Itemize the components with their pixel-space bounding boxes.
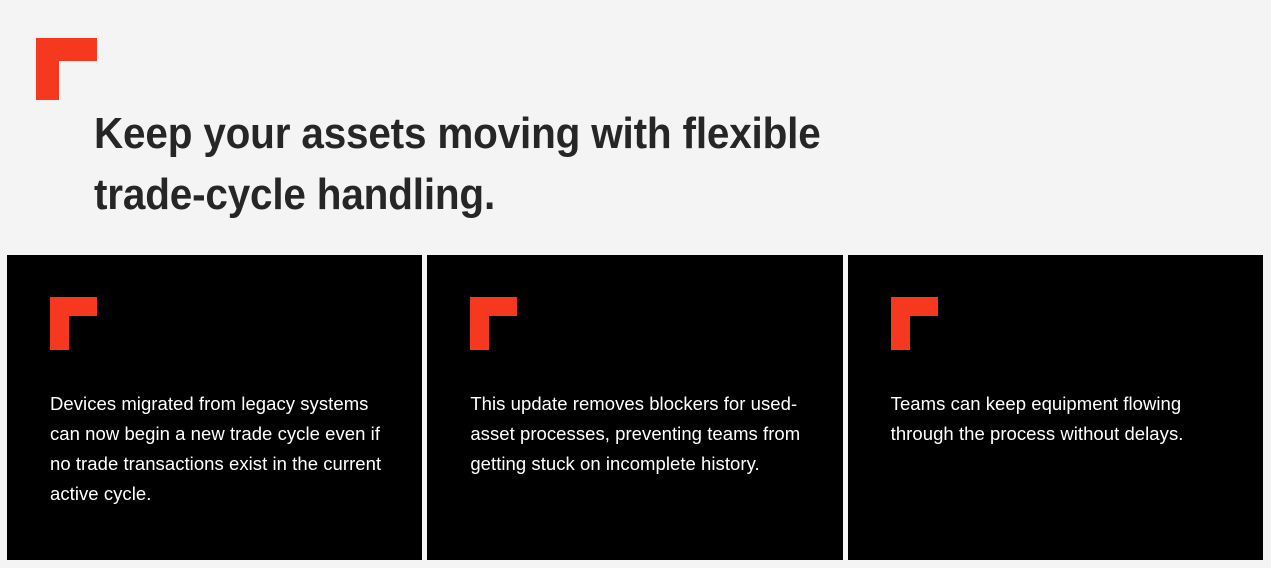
card-corner-bracket-icon (891, 297, 938, 350)
brand-corner-bracket-icon (36, 38, 97, 100)
feature-card-text: Devices migrated from legacy systems can… (50, 389, 396, 509)
feature-card: Devices migrated from legacy systems can… (7, 255, 422, 560)
feature-card-row: Devices migrated from legacy systems can… (7, 255, 1263, 560)
feature-card-text: Teams can keep equipment flowing through… (891, 389, 1237, 449)
card-corner-bracket-icon (50, 297, 97, 350)
bracket-left-stem (470, 297, 489, 350)
feature-card-text: This update removes blockers for used-as… (470, 389, 816, 479)
card-corner-bracket-icon (470, 297, 517, 350)
feature-card: This update removes blockers for used-as… (427, 255, 842, 560)
feature-card: Teams can keep equipment flowing through… (848, 255, 1263, 560)
slide-root: Keep your assets moving with flexible tr… (0, 0, 1271, 568)
page-title: Keep your assets moving with flexible tr… (94, 103, 922, 225)
bracket-left-stem (891, 297, 910, 350)
bracket-left-stem (36, 38, 59, 100)
bracket-left-stem (50, 297, 69, 350)
